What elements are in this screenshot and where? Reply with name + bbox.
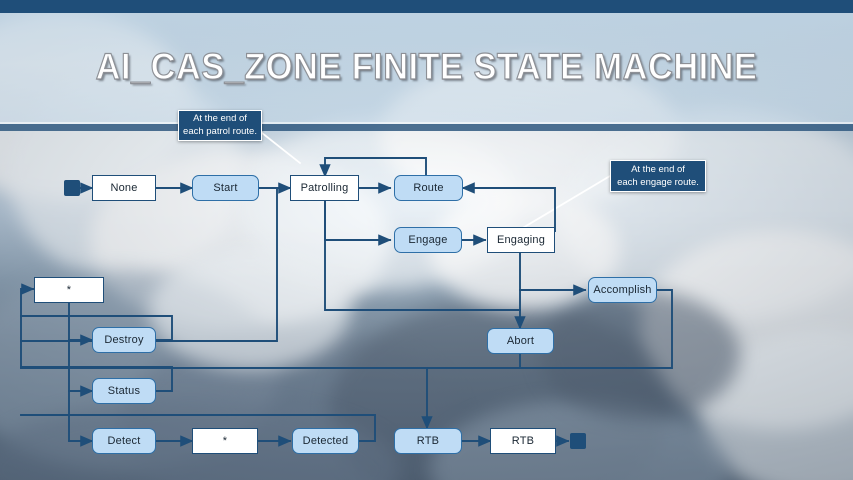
engage-callout-leader <box>521 176 610 229</box>
node-label: Detect <box>108 435 141 447</box>
callout-line-2: each patrol route. <box>183 125 257 138</box>
callout-engage-note: At the end of each engage route. <box>610 160 706 192</box>
state-node-engage[interactable]: Engage <box>394 227 462 253</box>
edge-patrolling-engage <box>325 201 390 240</box>
node-label: Accomplish <box>593 284 651 296</box>
node-label: * <box>67 284 71 296</box>
state-node-destroy[interactable]: Destroy <box>92 327 156 353</box>
edge-patrolling-abort-feed <box>325 201 520 310</box>
callout-line-1: At the end of <box>631 163 685 176</box>
state-node-patrolling[interactable]: Patrolling <box>290 175 359 201</box>
node-label: Route <box>413 182 443 194</box>
state-node-detect[interactable]: Detect <box>92 428 156 454</box>
state-node-accomplish[interactable]: Accomplish <box>588 277 657 303</box>
node-label: Start <box>213 182 237 194</box>
edge-patrolling-left-rail <box>21 188 290 341</box>
state-node-abort[interactable]: Abort <box>487 328 554 354</box>
edge-engaging-route-loop <box>463 188 555 231</box>
node-label: RTB <box>417 435 439 447</box>
callout-patrol-note: At the end of each patrol route. <box>178 110 262 141</box>
node-label: Abort <box>507 335 534 347</box>
node-label: * <box>223 435 227 447</box>
state-node-status[interactable]: Status <box>92 378 156 404</box>
state-node-any-top[interactable]: * <box>34 277 104 303</box>
node-label: Patrolling <box>301 182 349 194</box>
node-label: RTB <box>512 435 534 447</box>
end-marker <box>570 433 586 449</box>
slide-canvas: AI_CAS_ZONE FINITE STATE MACHINE <box>0 0 853 480</box>
callout-line-1: At the end of <box>193 112 247 125</box>
state-node-detected[interactable]: Detected <box>292 428 359 454</box>
node-label: Detected <box>303 435 349 447</box>
node-label: Destroy <box>104 334 143 346</box>
state-node-start[interactable]: Start <box>192 175 259 201</box>
callout-line-2: each engage route. <box>617 176 699 189</box>
patrol-callout-leader <box>262 133 300 163</box>
node-label: None <box>110 182 137 194</box>
edge-left-rail-any <box>21 289 33 368</box>
state-node-route[interactable]: Route <box>394 175 463 201</box>
start-marker <box>64 180 80 196</box>
state-node-none[interactable]: None <box>92 175 156 201</box>
state-node-rtb-trigger[interactable]: RTB <box>394 428 462 454</box>
node-label: Engage <box>408 234 447 246</box>
edge-route-patrolling-loop <box>325 158 426 176</box>
state-node-engaging[interactable]: Engaging <box>487 227 555 253</box>
state-node-any-bottom[interactable]: * <box>192 428 258 454</box>
node-label: Status <box>108 385 140 397</box>
node-label: Engaging <box>497 234 545 246</box>
state-node-rtb-state[interactable]: RTB <box>490 428 556 454</box>
